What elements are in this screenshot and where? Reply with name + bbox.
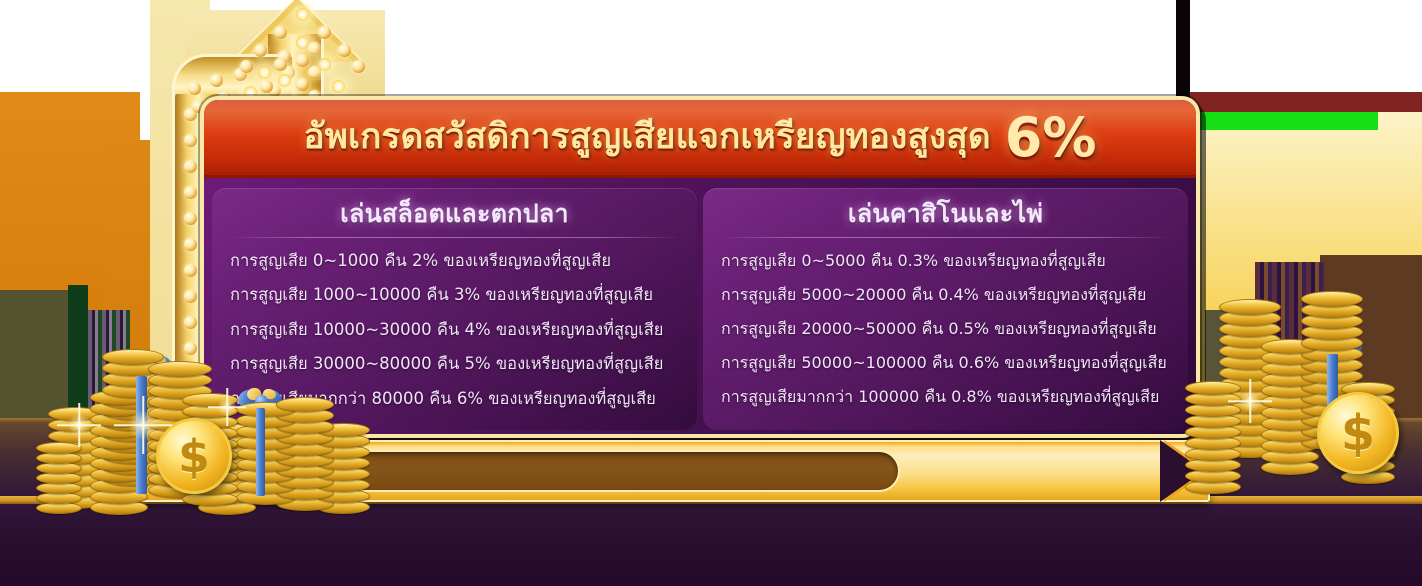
marquee-bulb-icon [296,78,309,91]
marquee-bulb-icon [184,212,197,225]
coin-disc-icon [276,397,334,412]
panel-title-casino-and-cards: เล่นคาสิโนและไพ่ [719,198,1172,237]
marquee-bulb-icon [184,238,197,251]
marquee-bulb-icon [184,290,197,303]
list-item: การสูญเสีย 20000~50000 คืน 0.5% ของเหรีย… [719,312,1172,346]
list-item: การสูญเสีย 10000~30000 คืน 4% ของเหรียญท… [228,313,681,348]
coin-disc-icon [1185,381,1241,395]
marquee-bulb-icon [260,80,273,93]
marquee-bulb-icon [184,186,197,199]
coin-disc-icon [148,361,212,377]
list-item: การสูญเสียมากกว่า 100000 คืน 0.8% ของเหร… [719,380,1172,414]
marquee-bulb-icon [240,60,253,73]
marquee-bulb-icon [274,26,287,39]
marquee-bulb-icon [184,264,197,277]
marquee-bulb-icon [296,54,309,67]
marquee-bulb-icon [188,82,201,95]
marquee-bulb-icon [318,26,331,39]
marquee-bulb-icon [184,134,197,147]
marquee-bulb-icon [184,316,197,329]
coin-disc-icon [182,393,238,407]
bow-tail [256,408,265,496]
marquee-bulb-icon [258,66,271,79]
marquee-bulb-icon [338,44,351,57]
list-item: การสูญเสีย 50000~100000 คืน 0.6% ของเหรี… [719,346,1172,380]
header-percent-badge: 6% [1005,111,1097,165]
marquee-bulb-icon [318,58,331,71]
panel-casino-and-cards: เล่นคาสิโนและไพ่ การสูญเสีย 0~5000 คืน 0… [703,188,1188,430]
card-header: อัพเกรดสวัสดิการสูญเสียแจกเหรียญทองสูงสุ… [204,100,1196,178]
dollar-coin-icon: $ [156,418,232,494]
coin-disc-icon [1219,299,1281,315]
list-item: การสูญเสีย 0~1000 คืน 2% ของเหรียญทองที่… [228,244,681,279]
dollar-coin-icon: $ [1317,392,1399,474]
marquee-bulb-icon [308,42,321,55]
panel-divider [228,237,681,238]
coin-pile-left: $ [30,350,360,520]
marquee-bulb-icon [210,74,223,87]
background-right-green-bar [1188,112,1378,130]
marquee-bulb-icon [254,44,267,57]
marquee-bulb-icon [296,8,309,21]
bow-tail [136,376,147,494]
marquee-bulb-icon [352,60,365,73]
marquee-bulb-icon [274,58,287,71]
marquee-bulb-icon [278,74,291,87]
coin-disc-icon [102,349,164,365]
marquee-bulb-icon [332,80,345,93]
coin-disc-icon [1301,291,1363,307]
panel-title-slots-and-fishing: เล่นสล็อตและตกปลา [228,198,681,237]
marquee-bulb-icon [296,36,309,49]
panel-rows-casino-and-cards: การสูญเสีย 0~5000 คืน 0.3% ของเหรียญทองท… [719,242,1172,414]
list-item: การสูญเสีย 1000~10000 คืน 3% ของเหรียญทอ… [228,278,681,313]
list-item: การสูญเสีย 5000~20000 คืน 0.4% ของเหรียญ… [719,278,1172,312]
marquee-bulb-icon [184,160,197,173]
list-item: การสูญเสีย 0~5000 คืน 0.3% ของเหรียญทองท… [719,244,1172,278]
page-title: อัพเกรดสวัสดิการสูญเสียแจกเหรียญทองสูงสุ… [304,120,991,155]
promo-banner: อัพเกรดสวัสดิการสูญเสียแจกเหรียญทองสูงสุ… [0,0,1422,586]
coin-pile-right: $ [1175,330,1422,520]
coin-disc-icon [36,442,82,454]
panel-divider [719,237,1172,238]
background-right-maroon-bar [1186,92,1422,112]
